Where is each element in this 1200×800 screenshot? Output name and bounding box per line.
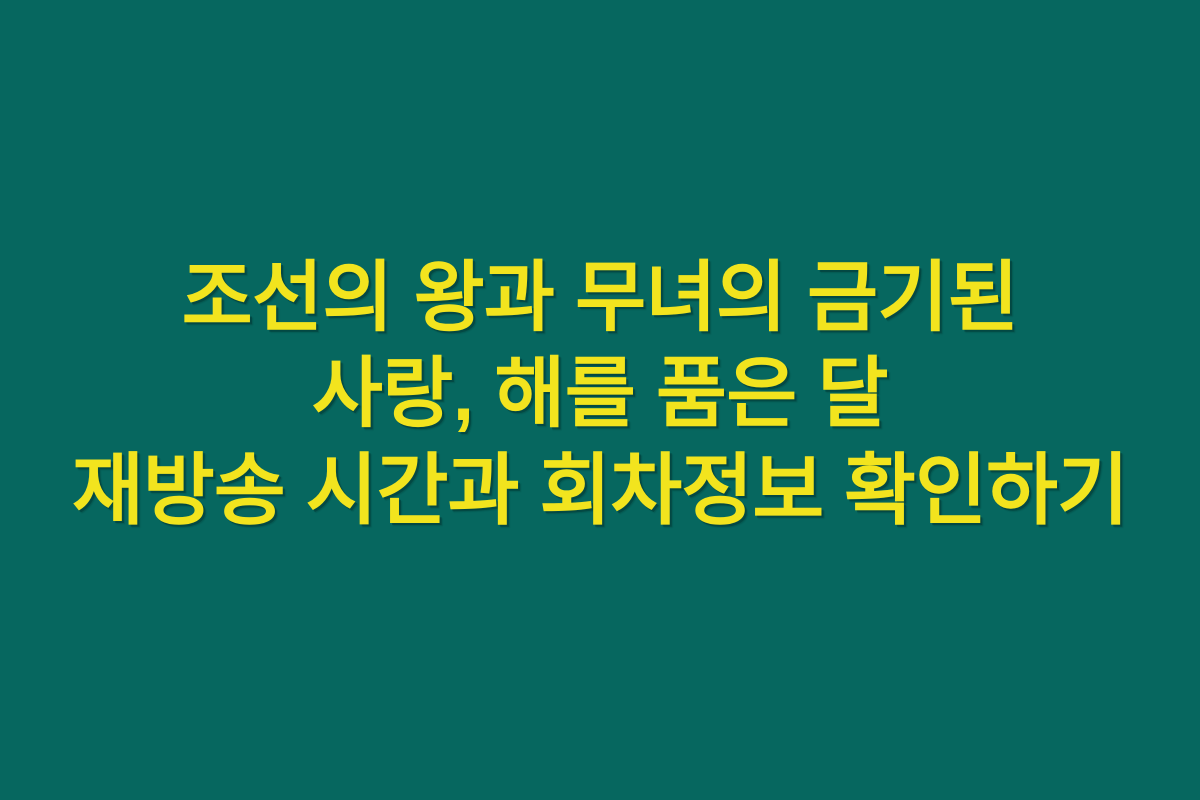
headline-line-1: 조선의 왕과 무녀의 금기된 (18, 250, 1182, 346)
headline-block: 조선의 왕과 무녀의 금기된 사랑, 해를 품은 달 재방송 시간과 회차정보 … (0, 250, 1200, 538)
banner-card: 조선의 왕과 무녀의 금기된 사랑, 해를 품은 달 재방송 시간과 회차정보 … (0, 0, 1200, 800)
headline-line-3: 재방송 시간과 회차정보 확인하기 (18, 442, 1182, 538)
headline-line-2: 사랑, 해를 품은 달 (18, 346, 1182, 442)
